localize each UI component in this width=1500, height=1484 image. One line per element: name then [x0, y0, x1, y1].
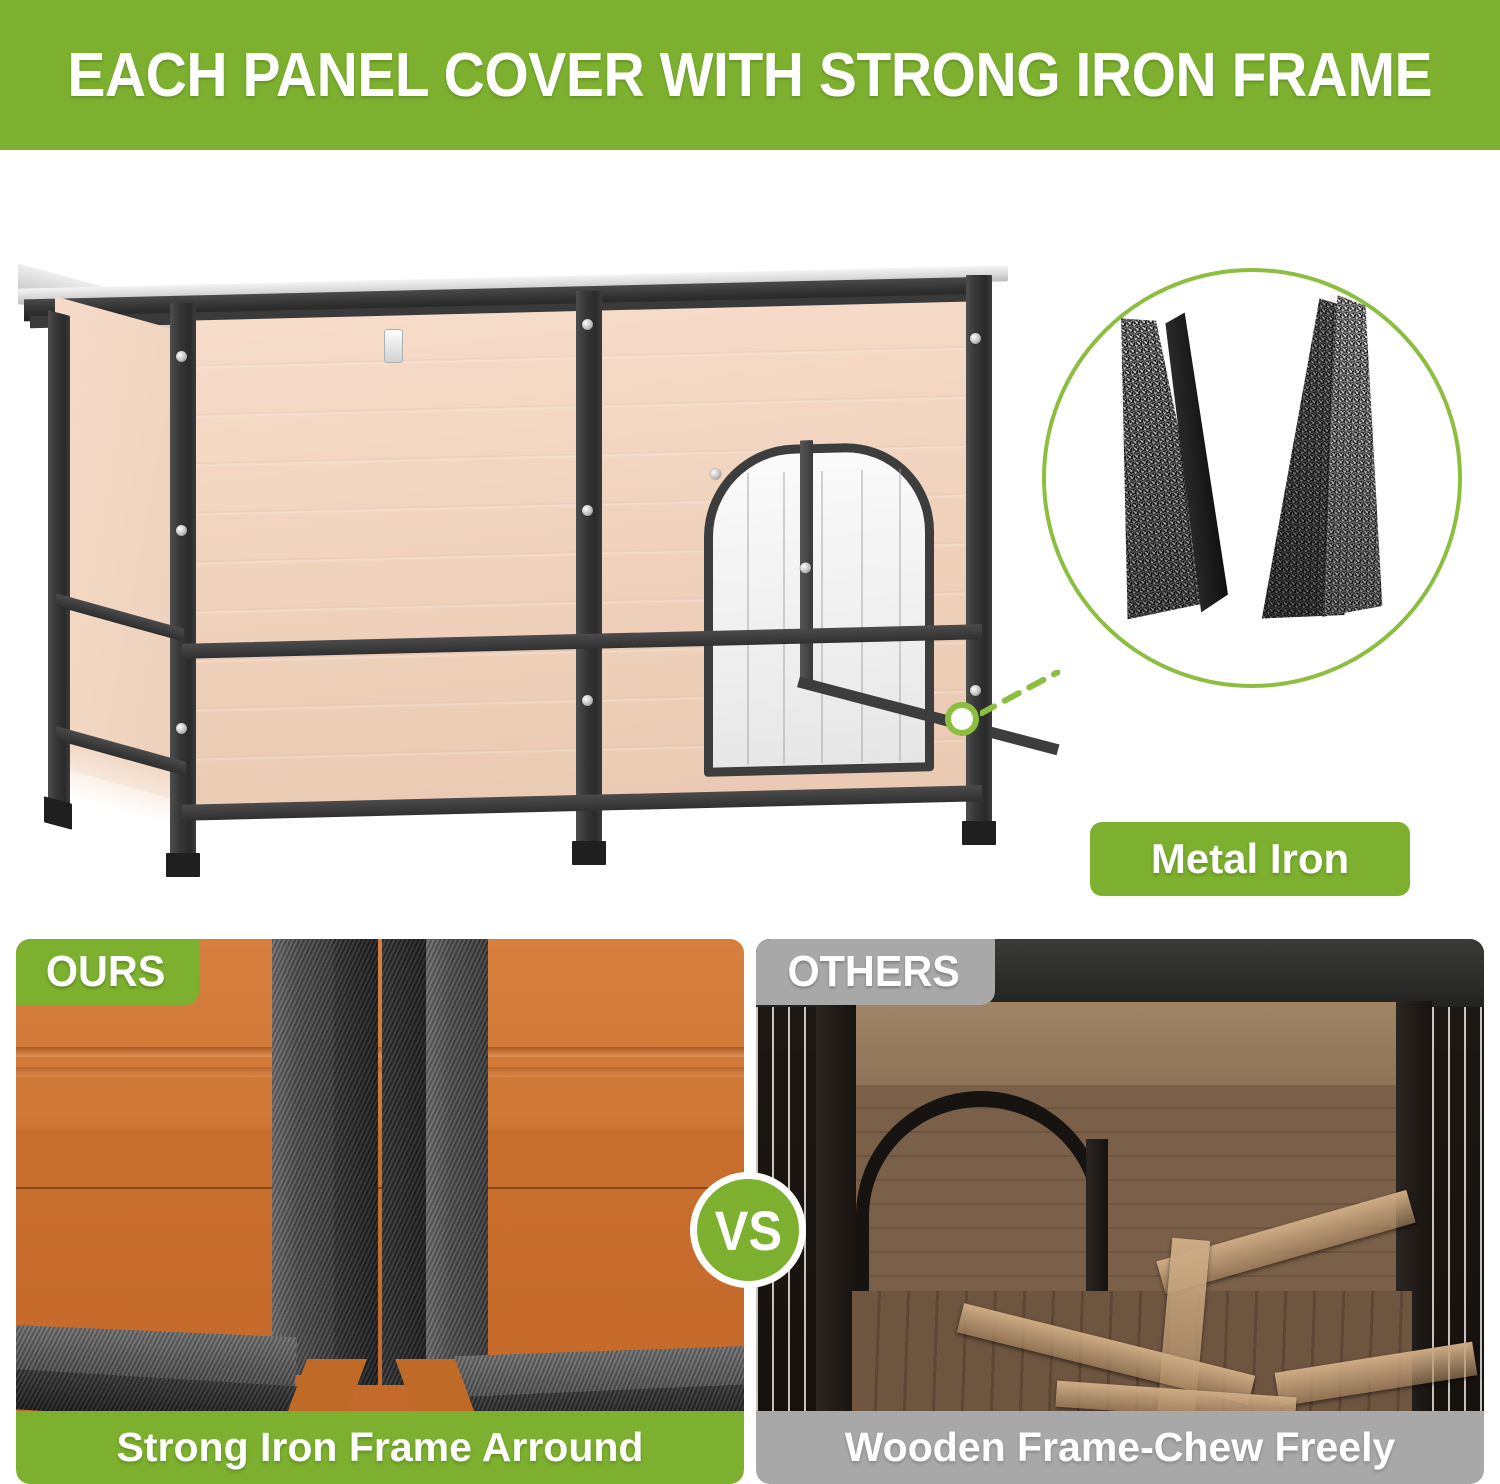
door-arch-frame — [704, 441, 934, 777]
frame-post-left-rear — [48, 310, 70, 821]
panel-seam — [16, 1187, 744, 1189]
screw-icon — [710, 468, 721, 479]
frame-corner-marker — [945, 702, 979, 736]
iron-corner-vertical-left — [272, 939, 334, 1375]
door-slat — [747, 473, 749, 765]
comparison-panel-ours: OURS Strong Iron Frame Arround — [16, 939, 744, 1484]
screw-icon — [176, 351, 187, 362]
frame-foot-right — [962, 821, 996, 845]
screw-icon — [582, 505, 593, 516]
iron-corner-vertical-right — [426, 939, 488, 1375]
screw-icon — [176, 723, 187, 734]
caption-others-text: Wooden Frame-Chew Freely — [845, 1424, 1396, 1471]
badge-others-text: OTHERS — [788, 947, 960, 997]
ours-photo — [16, 939, 744, 1429]
hero-section: Metal Iron — [0, 150, 1500, 925]
screw-icon — [176, 525, 187, 536]
wood-grain-line — [16, 1047, 744, 1057]
others-photo — [756, 939, 1484, 1429]
metal-iron-label: Metal Iron — [1090, 822, 1410, 896]
vs-badge-text: VS — [714, 1198, 781, 1263]
frame-foot-left-front — [166, 853, 200, 877]
coop-post-left — [816, 1001, 856, 1429]
vs-badge: VS — [690, 1172, 806, 1288]
page-title: EACH PANEL COVER WITH STRONG IRON FRAME — [68, 40, 1433, 111]
door-opening — [704, 441, 934, 777]
door-latch-icon — [384, 329, 403, 363]
caption-others: Wooden Frame-Chew Freely — [756, 1411, 1484, 1484]
frame-post-left-front — [170, 303, 196, 863]
door-slat — [821, 471, 823, 763]
metal-iron-callout: Metal Iron — [1032, 268, 1482, 888]
screw-icon — [582, 695, 593, 706]
callout-circle — [1042, 268, 1462, 688]
caption-ours-text: Strong Iron Frame Arround — [117, 1424, 644, 1471]
product-illustration — [10, 255, 1020, 895]
badge-others: OTHERS — [756, 939, 995, 1005]
badge-ours: OURS — [16, 939, 199, 1005]
frame-post-center — [576, 291, 602, 851]
badge-ours-text: OURS — [46, 947, 165, 997]
wood-grain-line — [16, 1067, 744, 1077]
door-slat — [899, 469, 901, 761]
coop-top-board — [822, 999, 1422, 1091]
metal-iron-label-text: Metal Iron — [1151, 835, 1349, 883]
comparison-panel-others: OTHERS Wooden Frame-Chew Freely — [756, 939, 1484, 1484]
frame-post-right — [966, 275, 992, 835]
frame-foot-center — [572, 841, 606, 865]
header-banner: EACH PANEL COVER WITH STRONG IRON FRAME — [0, 0, 1500, 150]
screw-icon — [582, 319, 593, 330]
iron-corner-vertical-left-dark — [334, 939, 378, 1385]
screw-icon — [970, 333, 981, 344]
caption-ours: Strong Iron Frame Arround — [16, 1411, 744, 1484]
door-slat — [783, 472, 785, 764]
door-slat — [861, 470, 863, 762]
iron-corner-vertical-right-dark — [382, 939, 426, 1385]
